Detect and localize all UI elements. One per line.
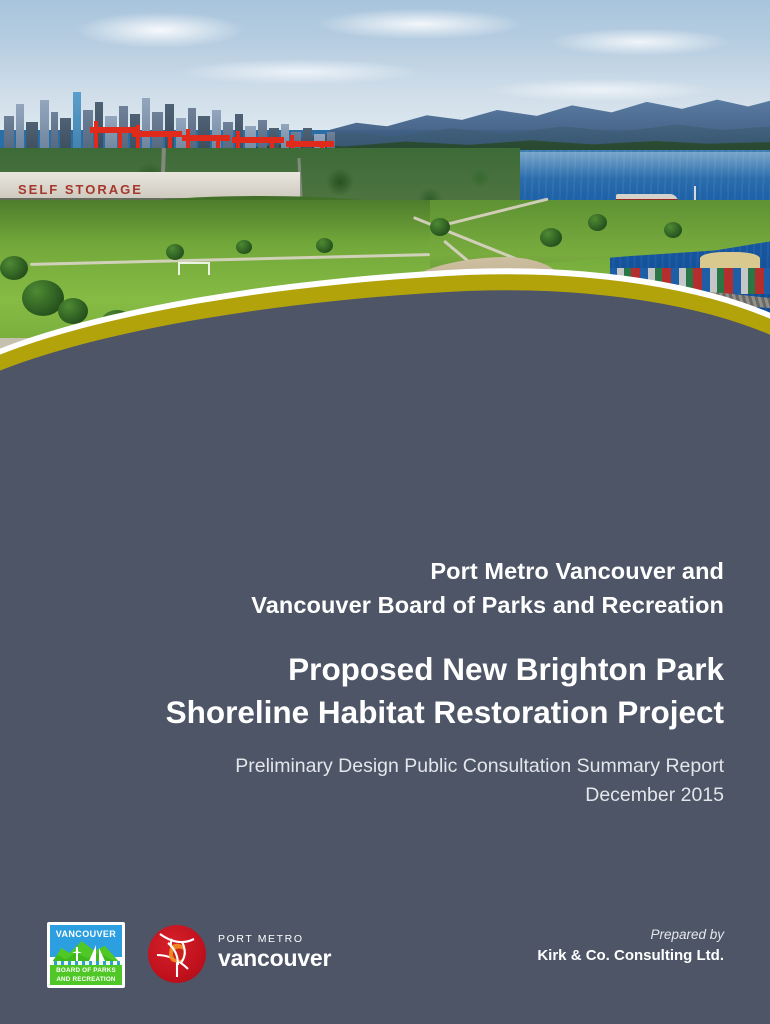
parks-logo-inner: VANCOUVER BOARD OF PARKS AND RECREATION: [50, 925, 122, 985]
title-line-1: Proposed New Brighton Park: [24, 648, 724, 691]
sulphur-pile: [700, 252, 760, 268]
port-metro-line-2: vancouver: [218, 946, 331, 971]
tree: [664, 222, 682, 238]
tree: [430, 218, 450, 236]
tree: [540, 228, 562, 247]
port-metro-wordmark: PORT METRO vancouver: [218, 933, 331, 971]
parks-logo-tree: [76, 947, 78, 961]
vancouver-board-of-parks-and-recreation-logo: VANCOUVER BOARD OF PARKS AND RECREATION: [47, 922, 125, 988]
tree: [0, 256, 28, 280]
parks-logo-band-line-2: AND RECREATION: [50, 975, 122, 984]
port-metro-swirl-icon: [148, 925, 206, 983]
organization-block: Port Metro Vancouver and Vancouver Board…: [24, 554, 724, 622]
tree: [58, 298, 88, 324]
subtitle-line-1: Preliminary Design Public Consultation S…: [24, 752, 724, 781]
title-panel: Port Metro Vancouver and Vancouver Board…: [0, 470, 770, 1024]
organization-line-2: Vancouver Board of Parks and Recreation: [24, 588, 724, 622]
title-line-2: Shoreline Habitat Restoration Project: [24, 691, 724, 734]
subtitle-block: Preliminary Design Public Consultation S…: [24, 752, 724, 810]
self-storage-sign: SELF STORAGE: [18, 182, 143, 197]
report-date: December 2015: [24, 781, 724, 810]
prepared-by-name: Kirk & Co. Consulting Ltd.: [304, 945, 724, 967]
parks-logo-top-word: VANCOUVER: [50, 929, 122, 939]
tree: [316, 238, 333, 253]
tree: [236, 240, 252, 254]
parks-logo-band: BOARD OF PARKS AND RECREATION: [50, 965, 122, 985]
tree: [588, 214, 607, 231]
soccer-goal: [178, 262, 210, 275]
prepared-by-block: Prepared by Kirk & Co. Consulting Ltd.: [304, 925, 724, 967]
tree: [166, 244, 184, 260]
parks-logo-band-line-1: BOARD OF PARKS: [50, 966, 122, 975]
prepared-by-label: Prepared by: [304, 925, 724, 945]
page-title: Proposed New Brighton Park Shoreline Hab…: [24, 648, 724, 734]
port-metro-vancouver-logo: PORT METRO vancouver: [148, 925, 308, 983]
report-cover-page: SELF STORAGE: [0, 0, 770, 1024]
organization-line-1: Port Metro Vancouver and: [24, 554, 724, 588]
